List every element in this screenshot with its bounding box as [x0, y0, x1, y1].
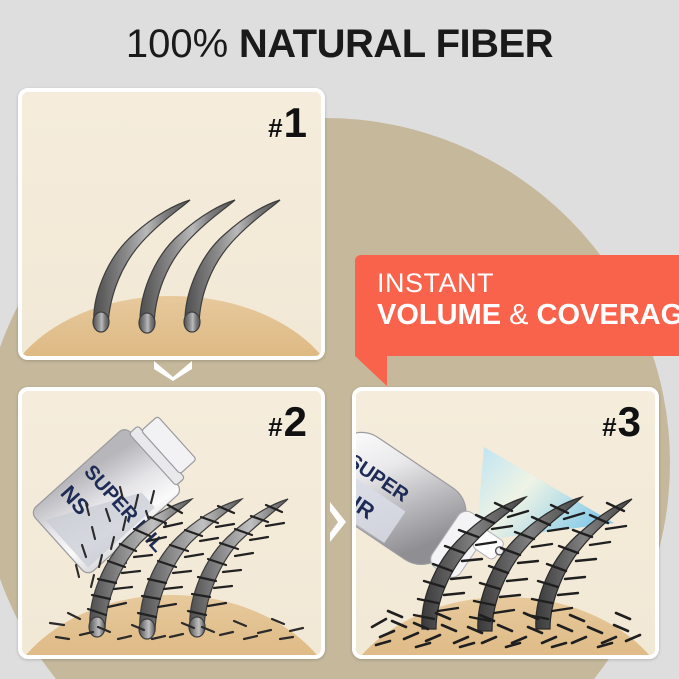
callout-line-2: VOLUME & COVERAGE	[377, 298, 679, 332]
hash-symbol: #	[268, 414, 282, 440]
step-number: 2	[284, 401, 307, 443]
panel-2-number-badge: # 2	[268, 401, 307, 443]
chevron-down-icon	[152, 359, 194, 381]
callout-ampersand: &	[509, 299, 528, 331]
hash-symbol: #	[268, 115, 282, 141]
shaker-bottle: SUPER MIL NS	[30, 406, 225, 598]
scalp-fibers	[50, 613, 303, 639]
step-panel-2: SUPER MIL NS	[18, 387, 325, 659]
hash-symbol: #	[602, 414, 616, 440]
instant-volume-callout: INSTANT VOLUME & COVERAGE	[355, 255, 679, 356]
step-number: 3	[618, 401, 641, 443]
step-panel-3: SUPER HAIR	[352, 387, 659, 659]
callout-line-1: INSTANT	[377, 268, 679, 298]
callout-volume: VOLUME	[377, 299, 501, 331]
infographic-canvas: 100% NATURAL FIBER	[0, 0, 679, 679]
page-title: 100% NATURAL FIBER	[0, 22, 679, 66]
step-number: 1	[284, 102, 307, 144]
step-panel-1: # 1	[18, 88, 325, 360]
panel-1-number-badge: # 1	[268, 102, 307, 144]
title-percent: 100%	[126, 22, 228, 66]
chevron-right-icon	[327, 500, 349, 544]
panel-3-number-badge: # 3	[602, 401, 641, 443]
scalp-fiber-mat	[372, 611, 640, 647]
callout-coverage: COVERAGE	[537, 299, 679, 331]
title-main: NATURAL FIBER	[239, 22, 553, 66]
callout-tail	[355, 356, 387, 386]
